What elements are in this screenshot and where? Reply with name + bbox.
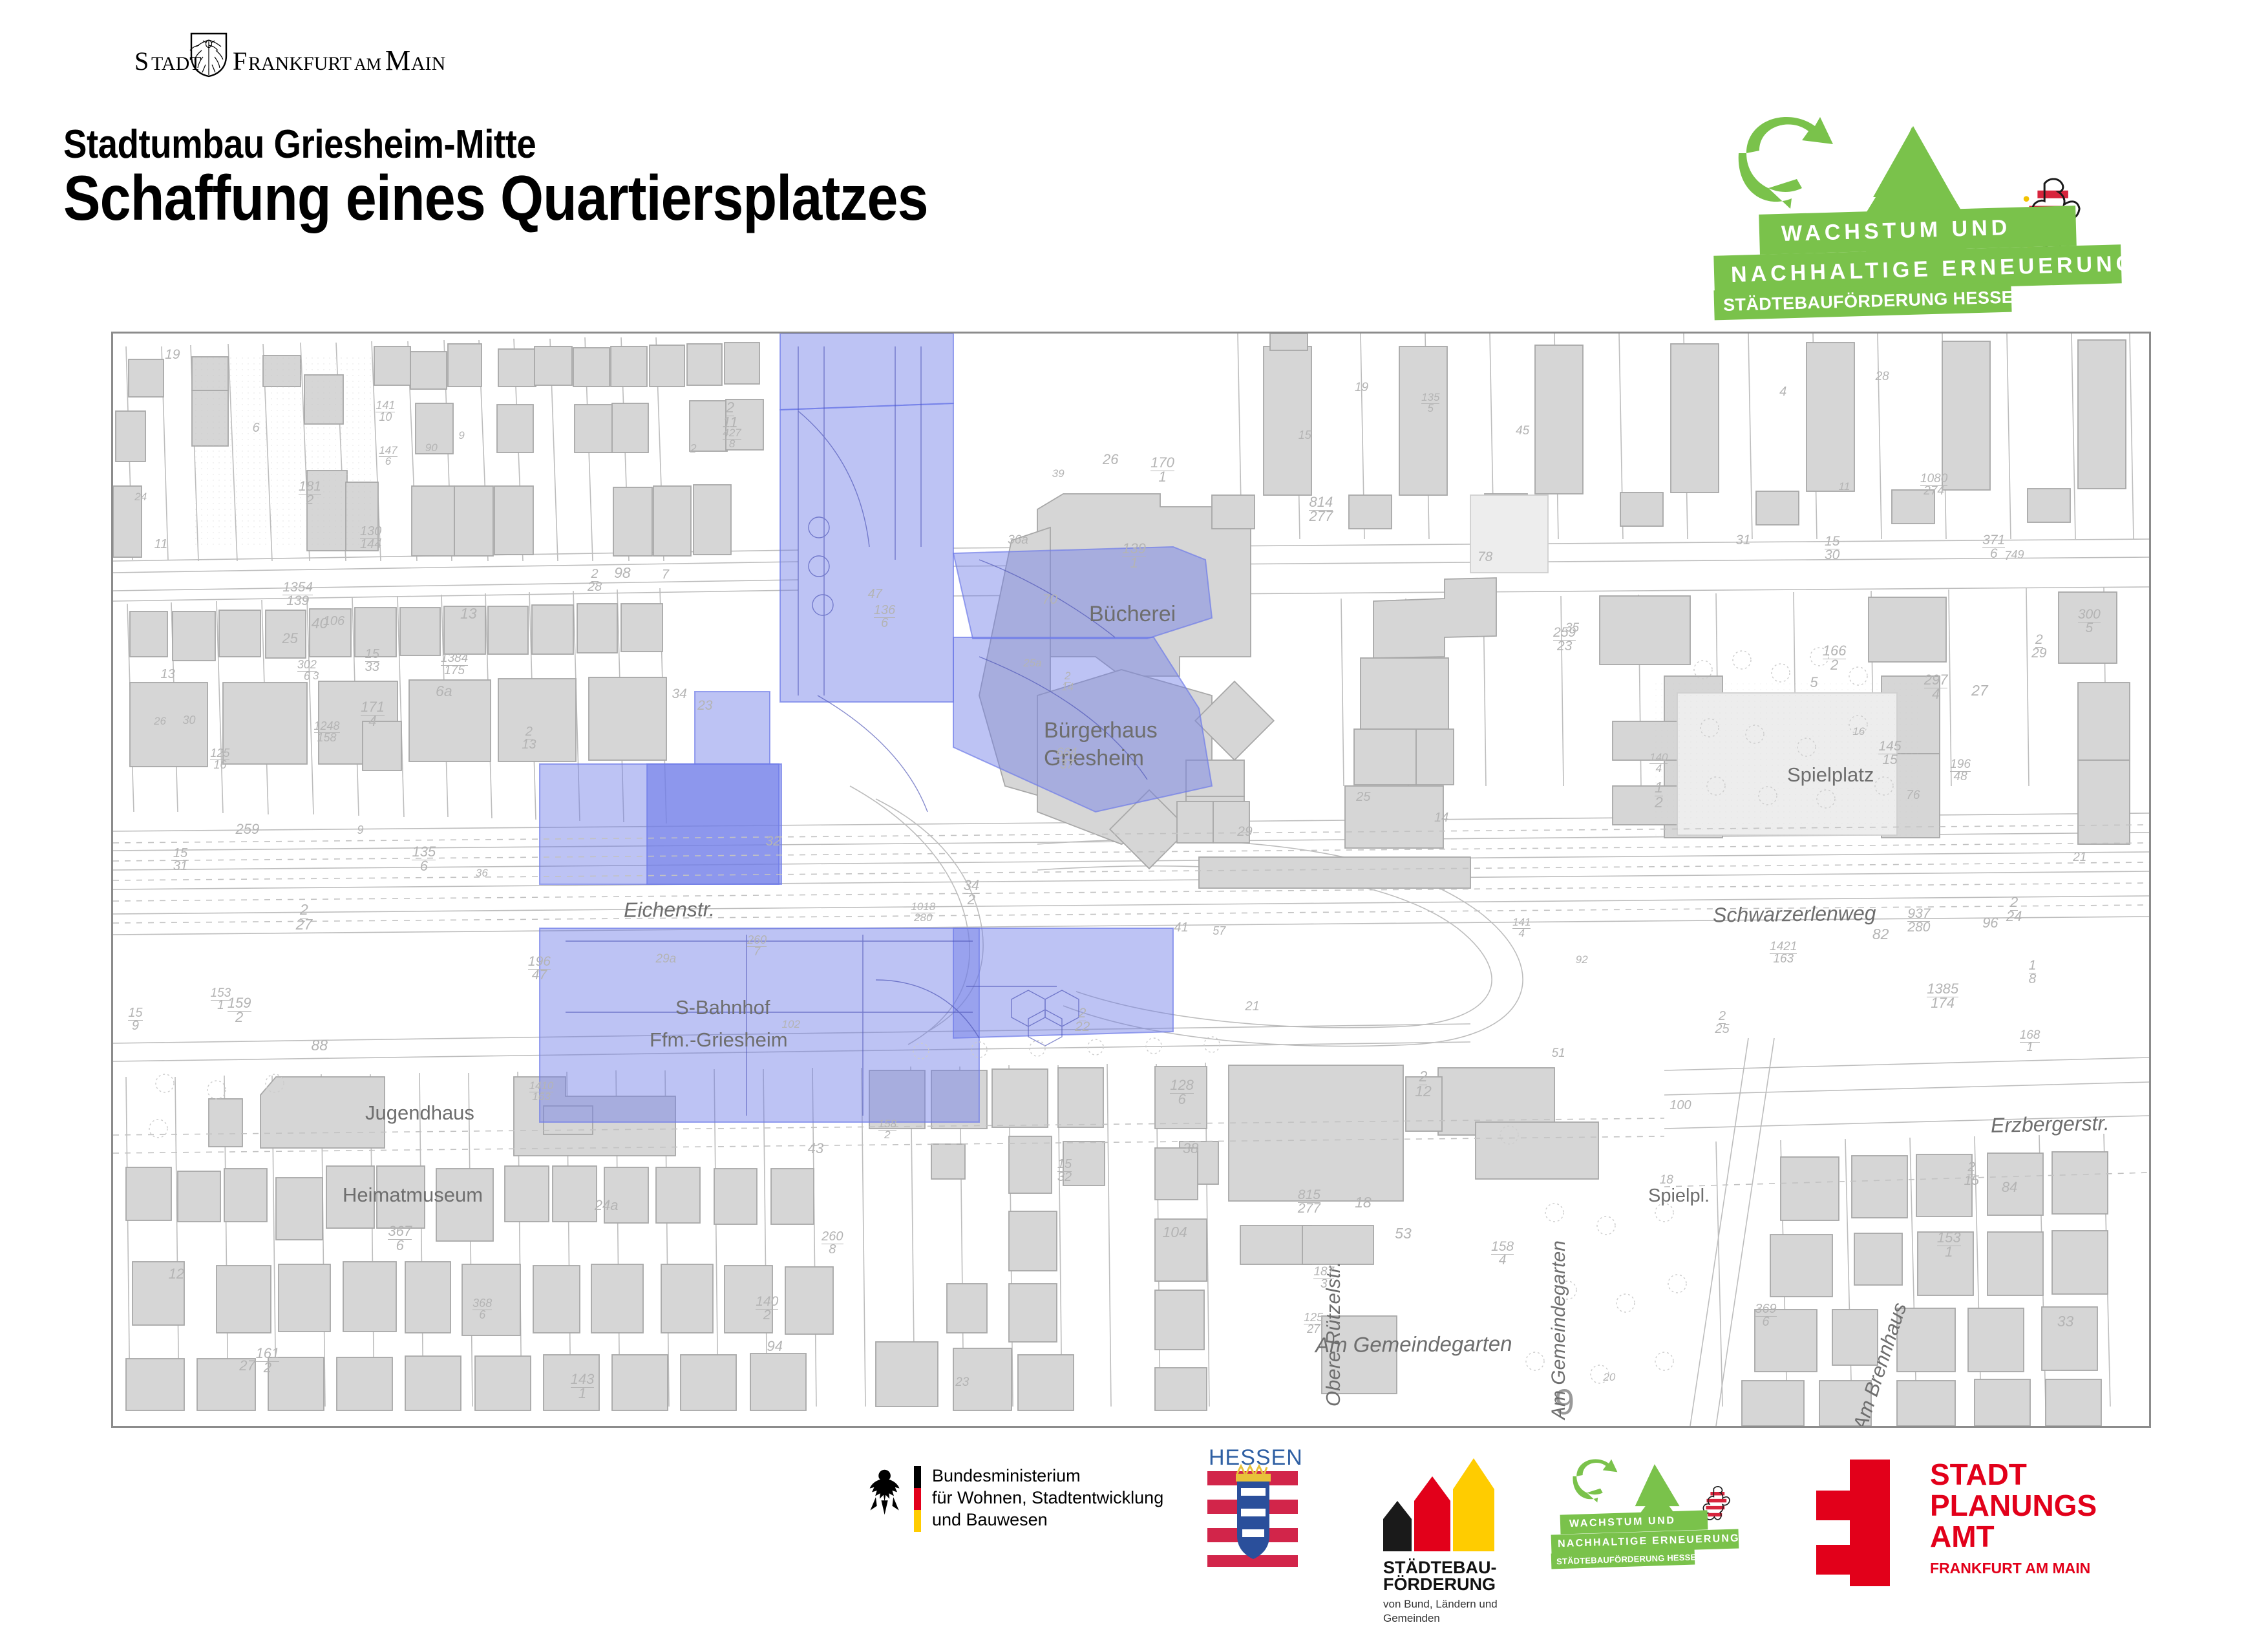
map-graphic: 9	[113, 334, 2149, 1426]
bmwsb-line-2: für Wohnen, Stadtentwicklung	[932, 1488, 1163, 1507]
page-footer: Bundesministerium für Wohnen, Stadtentwi…	[0, 1448, 2268, 1603]
staedtebau-line-2: FÖRDERUNG	[1383, 1575, 1496, 1595]
wachstum-erneuerung-logo-small: WACHSTUM UND NACHHALTIGE ERNEUERUNG STÄD…	[1558, 1457, 1771, 1580]
map-poi-ffm-griesheim: Ffm.-Griesheim	[650, 1028, 788, 1052]
wn-small-band-2-label: NACHHALTIGE ERNEUERUNG	[1551, 1533, 1740, 1550]
wn-small-band-1-label: WACHSTUM UND	[1560, 1515, 1676, 1531]
stadtplanungsamt-mark-icon	[1816, 1460, 1890, 1586]
hessen-logo: HESSEN	[1202, 1448, 1312, 1571]
map-poi-buergerhaus: Bürgerhaus	[1044, 718, 1158, 743]
map-street-erzbergerstr: Erzbergerstr.	[1991, 1111, 2110, 1138]
bundesadler-icon	[870, 1470, 900, 1515]
map-poi-buecherei: Bücherei	[1089, 602, 1176, 627]
map-poi-griesheim: Griesheim	[1044, 746, 1144, 771]
spa-line-3: AMT	[1930, 1522, 2097, 1553]
wachstum-erneuerung-logo: WACHSTUM UND NACHHALTIGE ERNEUERUNG STÄD…	[1706, 113, 2159, 301]
svg-text:M: M	[385, 45, 410, 76]
map-poi-spielplatz: Spielplatz	[1787, 763, 1874, 787]
map-poi-s-bahnhof: S-Bahnhof	[675, 996, 770, 1019]
wn-band-2-label: NACHHALTIGE ERNEUERUNG	[1714, 251, 2137, 288]
map-street-eichenstr: Eichenstr.	[624, 897, 715, 922]
stadtplanungsamt-logo: STADT PLANUNGS AMT FRANKFURT AM MAIN	[1816, 1460, 2114, 1586]
svg-text:TADT: TADT	[151, 53, 202, 74]
svg-text:AM: AM	[354, 55, 381, 74]
svg-text:F: F	[233, 47, 247, 76]
three-houses-icon	[1383, 1458, 1494, 1551]
spa-line-2: PLANUNGS	[1930, 1491, 2097, 1522]
bmwsb-line-3: und Bauwesen	[932, 1510, 1048, 1529]
page-header: S TADT F RANKFURT AM M AIN Stadtumbau Gr…	[0, 0, 2268, 317]
svg-text:AIN: AIN	[411, 53, 445, 74]
cadastral-map[interactable]: 9 Bücherei Bürgerhaus Griesheim Spielpla…	[111, 332, 2151, 1428]
wn-band-1-label: WACHSTUM UND	[1759, 215, 2011, 247]
svg-text:RANKFURT: RANKFURT	[248, 53, 352, 74]
page-title: Schaffung eines Quartiersplatzes	[63, 162, 928, 235]
map-poi-jugendhaus: Jugendhaus	[365, 1101, 474, 1125]
map-poi-heimatmuseum: Heimatmuseum	[343, 1184, 483, 1207]
svg-text:S: S	[134, 47, 149, 76]
bmwsb-logo: Bundesministerium für Wohnen, Stadtentwi…	[860, 1461, 1163, 1538]
spa-line-4: FRANKFURT AM MAIN	[1930, 1561, 2097, 1577]
map-street-obere-ruetzelstr: Obere Rützelstr.	[1322, 1261, 1345, 1407]
recycle-arrow-icon	[1739, 117, 1833, 209]
staedtebaufoerderung-logo: STÄDTEBAU- FÖRDERUNG von Bund, Ländern u…	[1377, 1454, 1571, 1584]
spa-line-1: STADT	[1930, 1460, 2097, 1491]
map-street-am-gemeindegarten-2: Am Gemeindegarten	[1548, 1240, 1570, 1419]
hessen-flag-shield-icon	[1207, 1466, 1298, 1567]
map-poi-spielpl: Spielpl.	[1648, 1185, 1710, 1207]
stadt-frankfurt-logo: S TADT F RANKFURT AM M AIN	[96, 31, 509, 76]
project-subtitle: Stadtumbau Griesheim-Mitte	[63, 122, 536, 167]
map-street-schwarzerlenweg: Schwarzerlenweg	[1713, 901, 1876, 927]
staedtebau-sub-2: Gemeinden	[1383, 1612, 1440, 1625]
wn-band-3-label: STÄDTEBAUFÖRDERUNG HESSEN	[1714, 286, 2027, 315]
hessen-label: HESSEN	[1209, 1448, 1303, 1470]
bmwsb-line-1: Bundesministerium	[932, 1466, 1081, 1485]
wn-small-band-3-label: STÄDTEBAUFÖRDERUNG HESSEN	[1551, 1552, 1702, 1566]
recycle-arrow-icon-small	[1573, 1460, 1617, 1503]
staedtebau-sub-1: von Bund, Ländern und	[1383, 1598, 1498, 1611]
